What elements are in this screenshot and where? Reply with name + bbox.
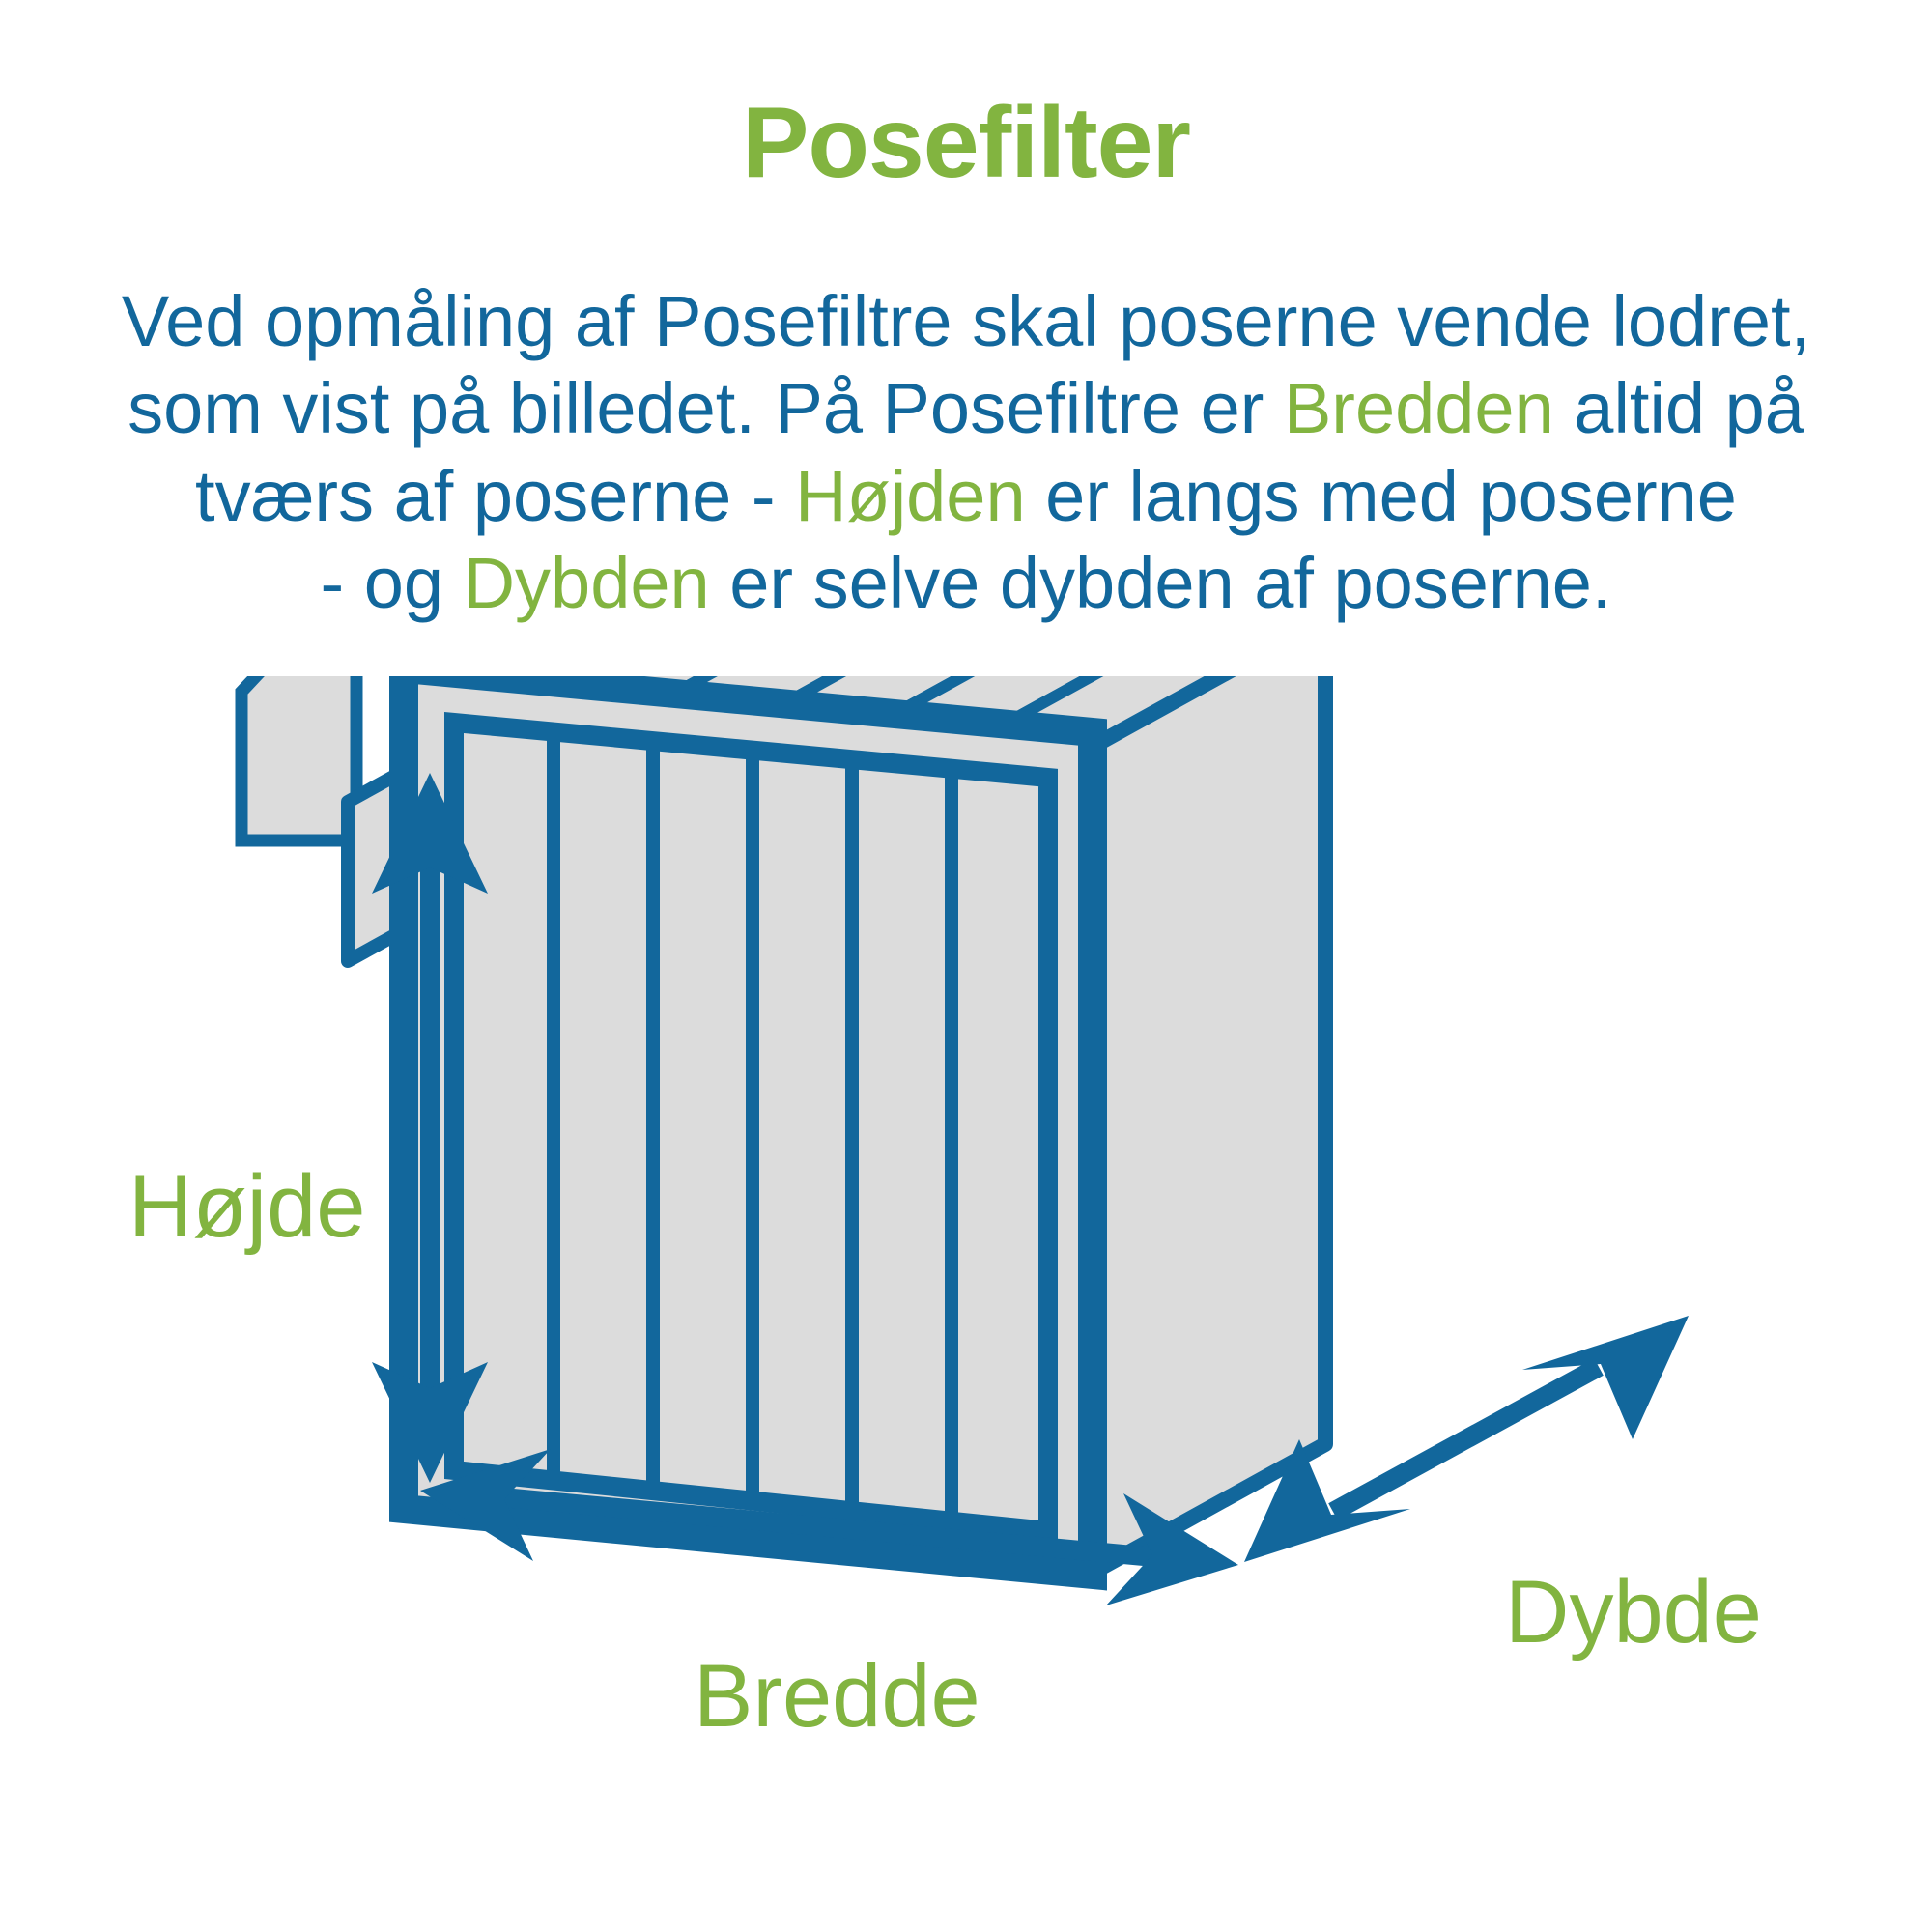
depth-arrow-shaft — [1333, 1367, 1599, 1512]
intro-highlight-dybden: Dybden — [464, 543, 710, 623]
depth-label: Dybde — [1505, 1563, 1762, 1662]
pocket-sheet — [241, 676, 356, 840]
intro-paragraph: Ved opmåling af Posefiltre skal poserne … — [68, 278, 1864, 627]
intro-line-4-seg-3: er selve dybden af poserne. — [710, 543, 1612, 623]
bag-filter-body — [404, 676, 1325, 1575]
intro-line-2: som vist på billedet. På Posefiltre er B… — [68, 365, 1864, 452]
filter-pockets — [241, 676, 356, 840]
filter-diagram: Højde Bredde Dybde — [0, 676, 1932, 1932]
height-label: Højde — [128, 1157, 365, 1256]
filter-depth-face — [1089, 676, 1325, 1575]
intro-line-4-seg-1: - og — [321, 543, 464, 623]
intro-line-3-seg-1: tværs af poserne - — [195, 456, 795, 536]
width-label: Bredde — [694, 1647, 980, 1746]
intro-highlight-hojden: Højden — [795, 456, 1026, 536]
intro-line-1: Ved opmåling af Posefiltre skal poserne … — [68, 278, 1864, 365]
intro-line-2-seg-1: som vist på billedet. På Posefiltre er — [128, 368, 1284, 448]
depth-arrow-head-up — [1522, 1316, 1689, 1439]
page-root: Posefilter Ved opmåling af Posefiltre sk… — [0, 0, 1932, 1932]
intro-line-1-seg-1: Ved opmåling af Posefiltre skal poserne … — [122, 281, 1810, 361]
intro-line-3-seg-3: er langs med poserne — [1026, 456, 1737, 536]
page-title: Posefilter — [0, 93, 1932, 193]
intro-line-2-seg-3: altid på — [1554, 368, 1804, 448]
intro-line-4: - og Dybden er selve dybden af poserne. — [68, 540, 1864, 627]
intro-line-3: tværs af poserne - Højden er langs med p… — [68, 453, 1864, 540]
intro-highlight-bredden: Bredden — [1284, 368, 1554, 448]
